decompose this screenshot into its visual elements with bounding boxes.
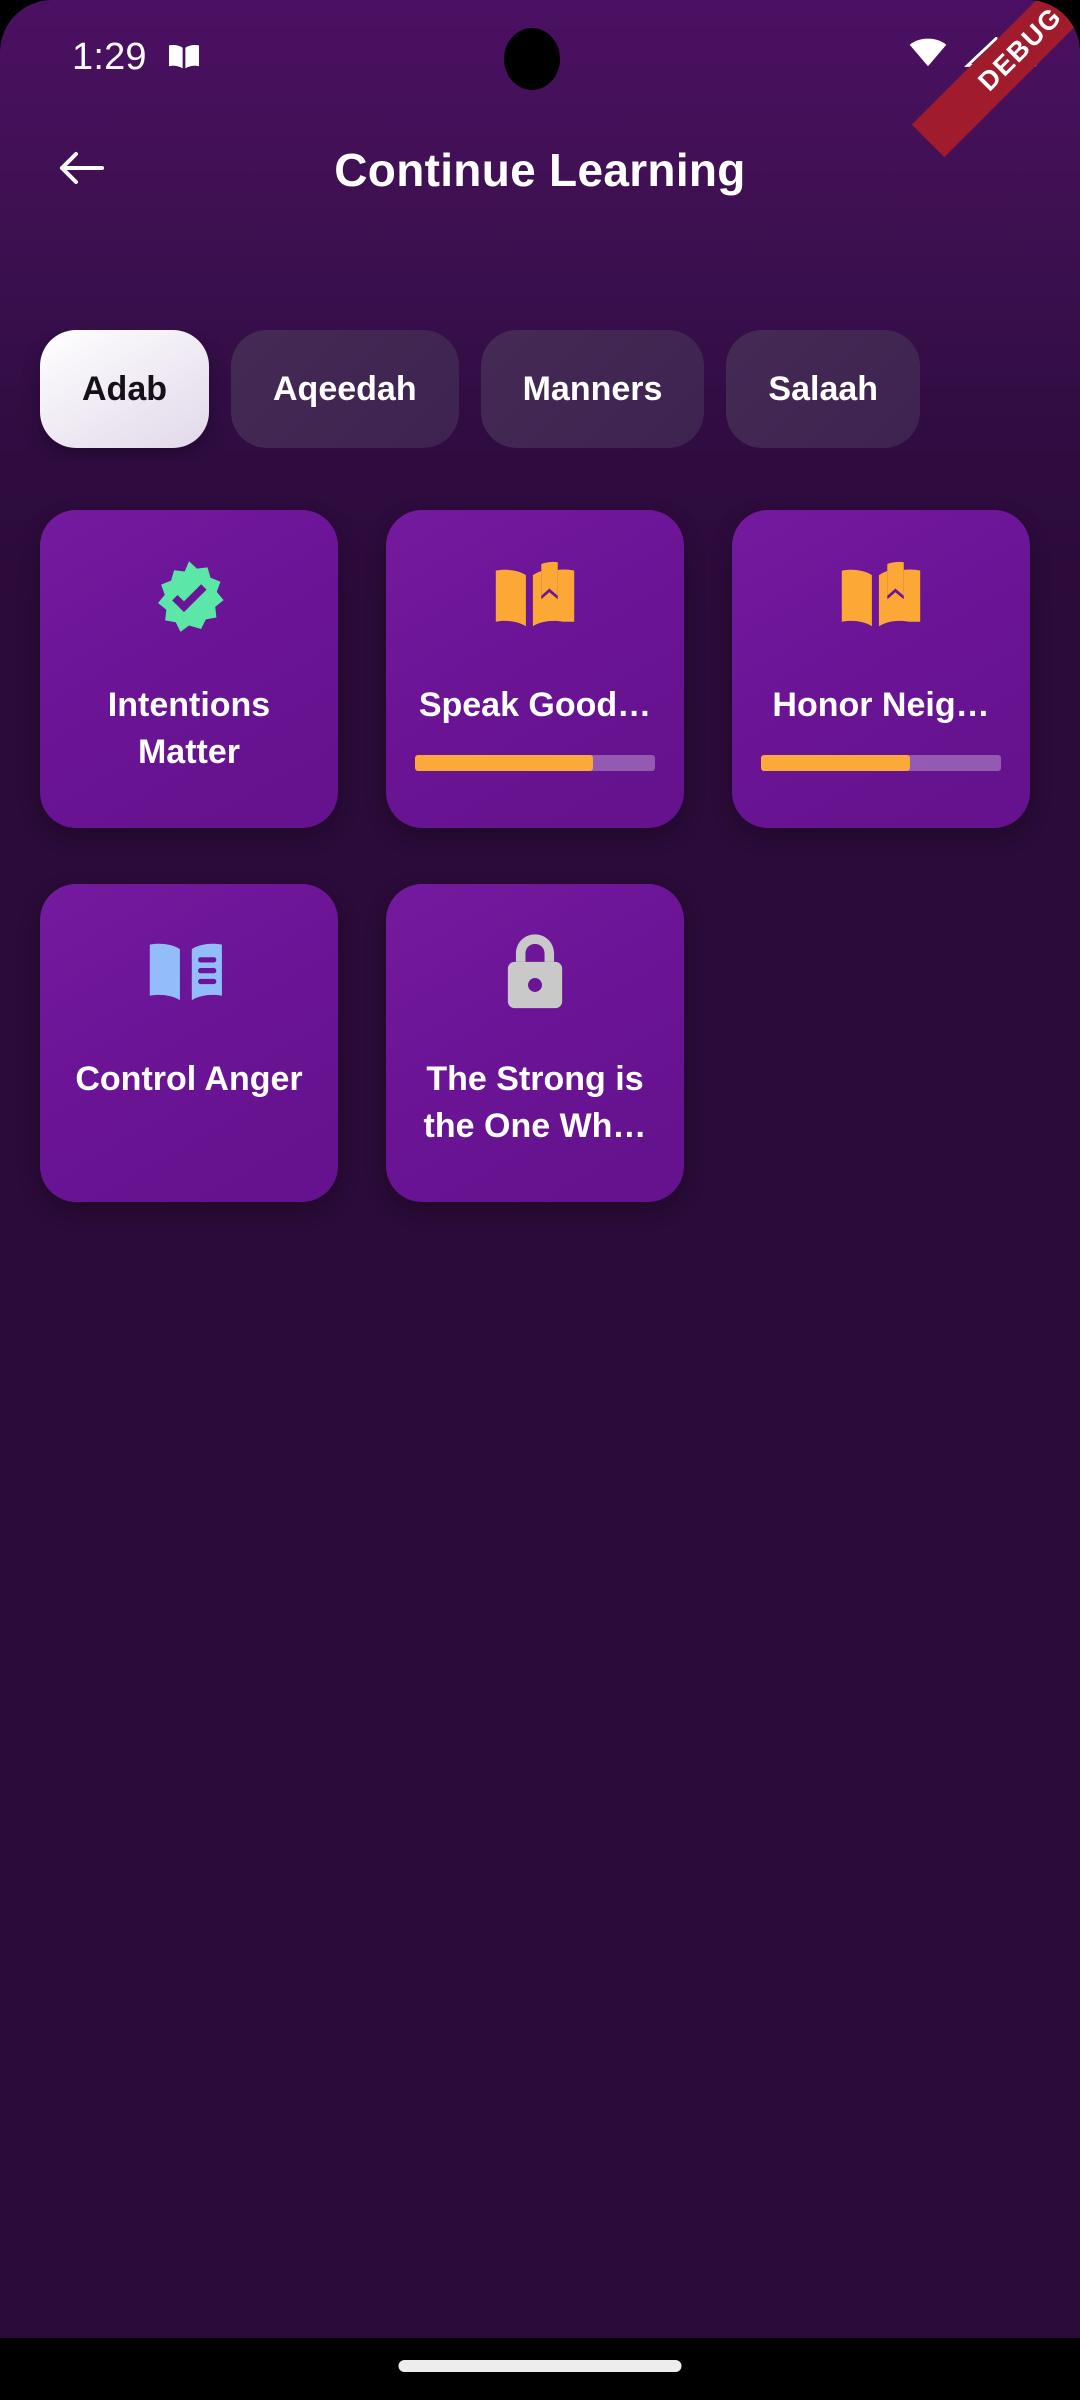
camera-punch-hole xyxy=(504,28,560,90)
lesson-card[interactable]: The Strong is the One Wh… xyxy=(386,884,684,1202)
lesson-card-grid: Intentions MatterSpeak Good…Honor Neig…C… xyxy=(40,510,1080,1258)
lesson-card-title: Speak Good… xyxy=(410,682,660,729)
book-icon xyxy=(167,42,201,72)
back-button[interactable] xyxy=(38,126,126,214)
category-chip-row[interactable]: AdabAqeedahMannersSalaah xyxy=(0,330,1080,460)
chip-manners[interactable]: Manners xyxy=(481,330,705,448)
chip-label: Manners xyxy=(523,370,663,409)
lesson-card[interactable]: Control Anger xyxy=(40,884,338,1202)
lesson-card-title: The Strong is the One Wh… xyxy=(410,1056,660,1150)
status-bar-left: 1:29 xyxy=(72,38,201,76)
chip-label: Salaah xyxy=(768,370,878,409)
debug-ribbon-label: DEBUG xyxy=(972,1,1068,97)
arrow-left-icon xyxy=(54,144,110,197)
chip-salaah[interactable]: Salaah xyxy=(726,330,920,448)
status-clock: 1:29 xyxy=(72,38,147,76)
menu-book-icon xyxy=(143,928,235,1020)
open-book-icon xyxy=(835,554,927,646)
lesson-card[interactable]: Speak Good… xyxy=(386,510,684,828)
chip-aqeedah[interactable]: Aqeedah xyxy=(231,330,459,448)
phone-screen: 1:29 xyxy=(0,0,1080,2400)
chip-adab[interactable]: Adab xyxy=(40,330,209,448)
app-surface: 1:29 xyxy=(0,0,1080,2338)
lesson-progress-fill xyxy=(761,755,910,771)
wifi-icon xyxy=(909,37,947,67)
system-navigation-bar xyxy=(0,2338,1080,2400)
lesson-progress-bar xyxy=(415,755,655,771)
chip-label: Adab xyxy=(82,370,167,409)
lesson-card[interactable]: Honor Neig… xyxy=(732,510,1030,828)
lesson-card[interactable]: Intentions Matter xyxy=(40,510,338,828)
lesson-card-title: Intentions Matter xyxy=(64,682,314,776)
lock-icon xyxy=(497,928,573,1020)
lesson-progress-bar xyxy=(761,755,1001,771)
verified-badge-check-icon xyxy=(146,554,232,646)
open-book-icon xyxy=(489,554,581,646)
lesson-card-title: Control Anger xyxy=(64,1056,314,1103)
lesson-card-title: Honor Neig… xyxy=(756,682,1006,729)
chip-label: Aqeedah xyxy=(273,370,417,409)
home-gesture-pill[interactable] xyxy=(399,2360,682,2372)
lesson-progress-fill xyxy=(415,755,593,771)
